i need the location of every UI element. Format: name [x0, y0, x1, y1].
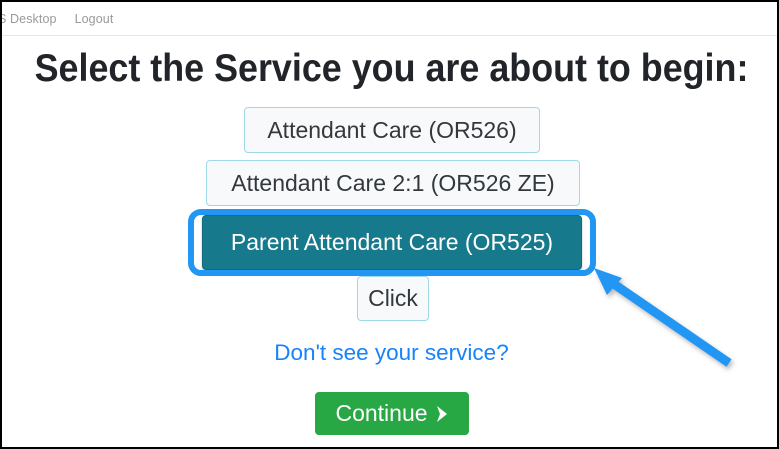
nav-desktop[interactable]: S Desktop [0, 12, 57, 26]
page-title: Select the Service you are about to begi… [33, 46, 750, 92]
service-option-attendant-care[interactable]: Attendant Care (OR526) [244, 107, 540, 153]
service-option-click[interactable]: Click [357, 276, 429, 321]
service-option-parent-attendant-care[interactable]: Parent Attendant Care (OR525) [202, 215, 582, 270]
app-screen: S Desktop Logout Select the Service you … [0, 0, 779, 449]
continue-button[interactable]: Continue [315, 392, 469, 435]
continue-button-label: Continue [335, 400, 427, 427]
nav-logout[interactable]: Logout [75, 12, 114, 26]
service-option-attendant-care-2to1[interactable]: Attendant Care 2:1 (OR526 ZE) [206, 160, 580, 206]
top-navigation-bar: S Desktop Logout [2, 2, 779, 36]
chevron-right-icon [435, 405, 449, 423]
no-service-link[interactable]: Don't see your service? [2, 340, 779, 366]
